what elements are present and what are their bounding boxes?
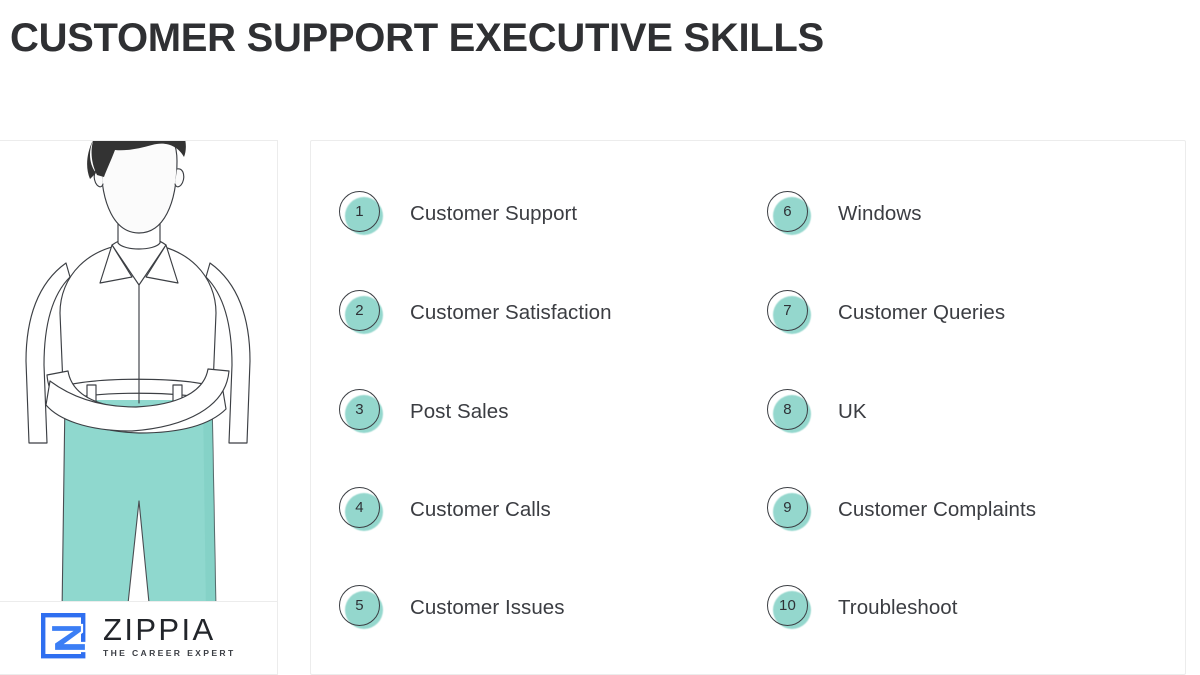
list-item[interactable]: 6 Windows bbox=[767, 189, 1167, 239]
skill-label: Customer Queries bbox=[838, 301, 1005, 325]
badge-number: 3 bbox=[339, 389, 380, 430]
list-item[interactable]: 8 UK bbox=[767, 387, 1167, 437]
badge-number: 7 bbox=[767, 290, 808, 331]
rank-badge: 3 bbox=[339, 389, 385, 435]
skills-grid: 1 Customer Support 2 Customer Satisfacti… bbox=[311, 141, 1187, 675]
list-item[interactable]: 1 Customer Support bbox=[339, 189, 739, 239]
rank-badge: 9 bbox=[767, 487, 813, 533]
badge-number: 10 bbox=[767, 585, 808, 626]
rank-badge: 5 bbox=[339, 585, 385, 631]
skill-label: Customer Calls bbox=[410, 498, 551, 522]
skill-label: Customer Support bbox=[410, 202, 577, 226]
page-title: CUSTOMER SUPPORT EXECUTIVE SKILLS bbox=[10, 14, 824, 62]
skill-label: Customer Complaints bbox=[838, 498, 1036, 522]
skill-label: Windows bbox=[838, 202, 922, 226]
brand-tagline: THE CAREER EXPERT bbox=[103, 647, 236, 660]
man-arms-crossed-line-art-icon bbox=[0, 140, 278, 601]
rank-badge: 4 bbox=[339, 487, 385, 533]
brand-wordmark: ZIPPIA bbox=[103, 614, 236, 646]
badge-number: 9 bbox=[767, 487, 808, 528]
skill-label: Troubleshoot bbox=[838, 596, 958, 620]
badge-number: 5 bbox=[339, 585, 380, 626]
rank-badge: 2 bbox=[339, 290, 385, 336]
illustration-divider bbox=[0, 601, 278, 602]
list-item[interactable]: 5 Customer Issues bbox=[339, 583, 739, 633]
badge-number: 2 bbox=[339, 290, 380, 331]
brand-logo[interactable]: ZIPPIA THE CAREER EXPERT bbox=[40, 613, 236, 661]
skill-label: Post Sales bbox=[410, 400, 509, 424]
badge-number: 4 bbox=[339, 487, 380, 528]
badge-number: 6 bbox=[767, 191, 808, 232]
skill-label: Customer Satisfaction bbox=[410, 301, 612, 325]
badge-number: 8 bbox=[767, 389, 808, 430]
list-item[interactable]: 3 Post Sales bbox=[339, 387, 739, 437]
badge-number: 1 bbox=[339, 191, 380, 232]
list-item[interactable]: 2 Customer Satisfaction bbox=[339, 288, 739, 338]
rank-badge: 6 bbox=[767, 191, 813, 237]
skill-label: Customer Issues bbox=[410, 596, 565, 620]
illustration-card bbox=[0, 140, 278, 675]
list-item[interactable]: 4 Customer Calls bbox=[339, 485, 739, 535]
skill-label: UK bbox=[838, 400, 867, 424]
list-item[interactable]: 7 Customer Queries bbox=[767, 288, 1167, 338]
skills-card: 1 Customer Support 2 Customer Satisfacti… bbox=[310, 140, 1186, 675]
rank-badge: 8 bbox=[767, 389, 813, 435]
rank-badge: 1 bbox=[339, 191, 385, 237]
rank-badge: 10 bbox=[767, 585, 813, 631]
infographic-page: CUSTOMER SUPPORT EXECUTIVE SKILLS bbox=[0, 0, 1200, 675]
list-item[interactable]: 10 Troubleshoot bbox=[767, 583, 1167, 633]
rank-badge: 7 bbox=[767, 290, 813, 336]
list-item[interactable]: 9 Customer Complaints bbox=[767, 485, 1167, 535]
zippia-z-logo-icon bbox=[40, 613, 90, 661]
